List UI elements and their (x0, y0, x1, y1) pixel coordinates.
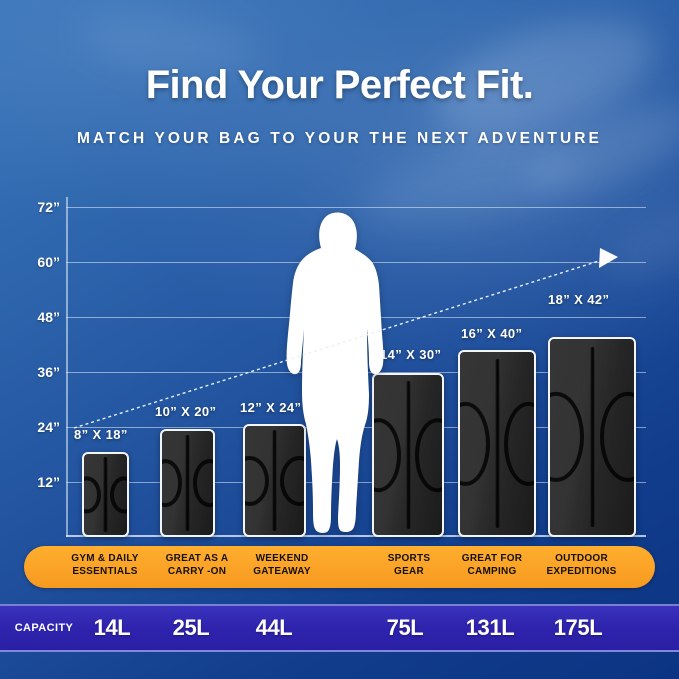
y-axis-tick-24: 24” (8, 419, 60, 435)
category-band: GYM & DAILY ESSENTIALS GREAT AS A CARRY … (24, 546, 655, 588)
bag-arc-right-icon (504, 401, 536, 485)
category-line-1: OUTDOOR (524, 552, 639, 565)
bag-strap-icon (185, 435, 190, 531)
trend-arrowhead-icon (599, 248, 618, 268)
category-line-2: GATEAWAY (227, 565, 337, 578)
y-axis-tick-36: 36” (8, 364, 60, 380)
human-silhouette-icon (281, 211, 399, 537)
capacity-value: 75L (365, 615, 445, 641)
bag-arc-right-icon (193, 459, 215, 507)
category-line-2: EXPEDITIONS (524, 565, 639, 578)
bag-arc-right-icon (600, 392, 636, 482)
bag-size-label: 8” X 18” (74, 427, 128, 442)
bag-size-label: 10” X 20” (155, 404, 216, 419)
bag-strap-icon (406, 381, 411, 528)
category-cell: OUTDOOR EXPEDITIONS (524, 552, 639, 578)
bag-strap-icon (272, 430, 277, 530)
capacity-value: 175L (538, 615, 618, 641)
category-line-1: WEEKEND (227, 552, 337, 565)
gridline (66, 207, 646, 208)
capacity-band: CAPACITY 14L 25L 44L 75L 131L 175L (0, 604, 679, 652)
category-cell: WEEKEND GATEAWAY (227, 552, 337, 578)
infographic-canvas: Find Your Perfect Fit. MATCH YOUR BAG TO… (0, 0, 679, 679)
bag-size-label: 16” X 40” (461, 326, 522, 341)
capacity-value: 44L (234, 615, 314, 641)
bag-bar[interactable] (458, 350, 536, 537)
capacity-row-label: CAPACITY (8, 622, 80, 634)
bag-bar[interactable] (548, 337, 636, 537)
bag-strap-icon (103, 457, 108, 532)
capacity-value: 14L (72, 615, 152, 641)
bag-strap-icon (590, 347, 595, 527)
bag-arc-right-icon (415, 418, 444, 492)
y-axis-tick-72: 72” (8, 199, 60, 215)
y-axis-tick-60: 60” (8, 254, 60, 270)
capacity-value: 131L (450, 615, 530, 641)
bag-arc-right-icon (110, 476, 129, 513)
y-axis-line (66, 197, 68, 537)
y-axis-tick-12: 12” (8, 474, 60, 490)
bag-size-label: 18” X 42” (548, 292, 609, 307)
bag-bar[interactable] (82, 452, 129, 537)
capacity-value: 25L (151, 615, 231, 641)
bag-strap-icon (495, 359, 500, 527)
bag-bar[interactable] (160, 429, 215, 537)
y-axis-tick-48: 48” (8, 309, 60, 325)
